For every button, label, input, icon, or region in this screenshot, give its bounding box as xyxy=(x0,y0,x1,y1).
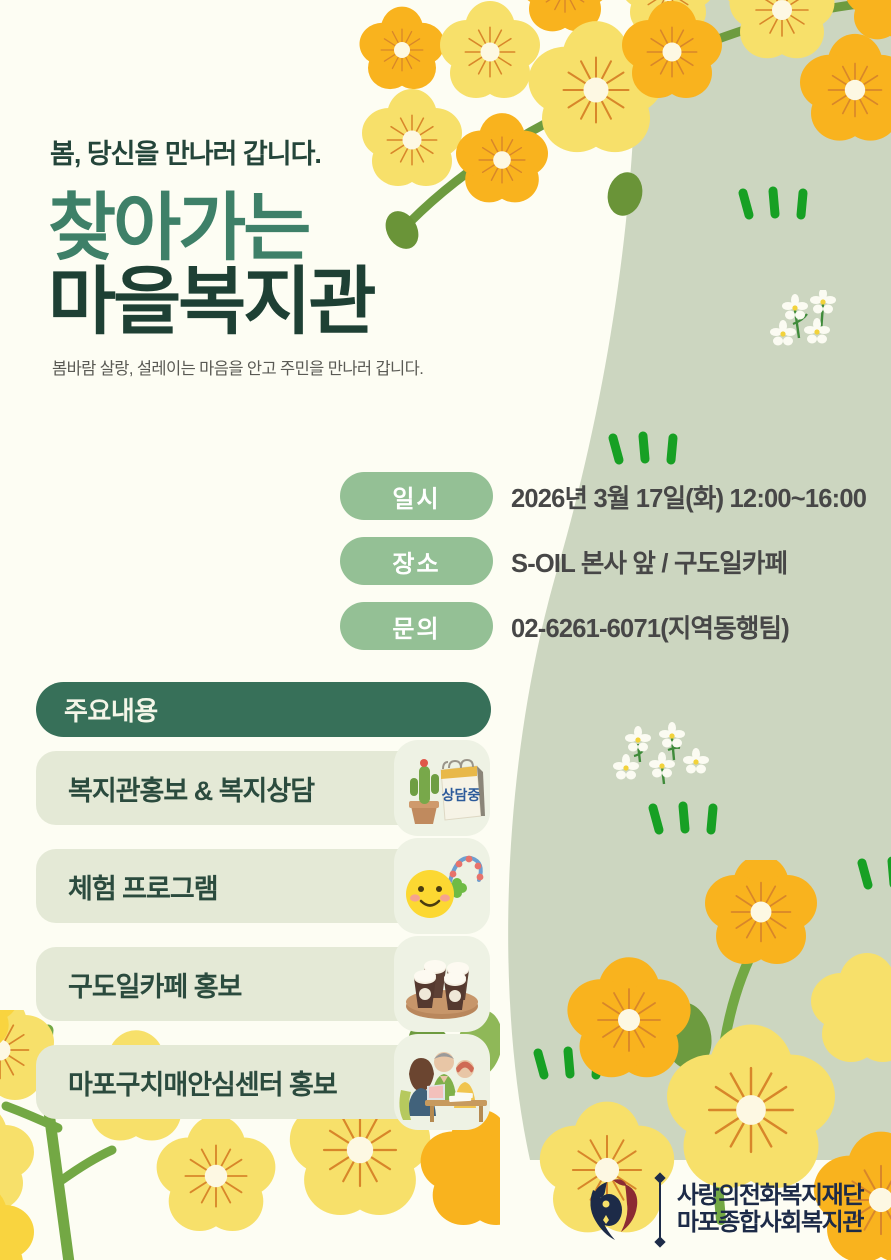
content-row-label: 복지관홍보 & 복지상담 xyxy=(68,769,314,808)
content-row: 체험 프로그램 xyxy=(36,849,486,923)
page-title-line-1: 찾아가는 xyxy=(48,192,518,265)
content-row-label: 구도일카페 홍보 xyxy=(68,965,241,1004)
info-block: 일시 2026년 3월 17일(화) 12:00~16:00 장소 S-OIL … xyxy=(340,472,880,667)
content-row: 구도일카페 홍보 xyxy=(36,947,486,1021)
content-row-label: 체험 프로그램 xyxy=(68,867,218,906)
headline-block: 봄, 당신을 만나러 갑니다. 찾아가는 마을복지관 봄바람 살랑, 설레이는 … xyxy=(48,140,518,379)
subtitle-text: 봄바람 살랑, 설레이는 마음을 안고 주민을 만나러 갑니다. xyxy=(52,355,518,379)
content-row: 복지관홍보 & 복지상담 xyxy=(36,751,486,825)
heart-phone-emblem-icon xyxy=(585,1176,647,1244)
content-section-header: 주요내용 xyxy=(36,682,491,737)
poster-canvas: 봄, 당신을 만나러 갑니다. 찾아가는 마을복지관 봄바람 살랑, 설레이는 … xyxy=(0,0,891,1260)
info-value-text: 02-6261-6071(지역동행팀) xyxy=(511,608,789,645)
info-row: 장소 S-OIL 본사 앞 / 구도일카페 xyxy=(340,537,880,585)
info-value-text: 2026년 3월 17일(화) 12:00~16:00 xyxy=(511,478,866,515)
content-row: 마포구치매안심센터 홍보 xyxy=(36,1045,486,1119)
info-label-badge: 일시 xyxy=(340,472,493,520)
content-block: 주요내용 복지관홍보 & 복지상담 xyxy=(36,682,491,1143)
info-row: 문의 02-6261-6071(지역동행팀) xyxy=(340,602,880,650)
calendar-icon-text: 상담중 xyxy=(442,787,481,803)
logo-text-line-1: 사랑의전화복지재단 xyxy=(677,1183,863,1210)
coffee-cups-icon xyxy=(394,936,490,1032)
page-title-line-2: 마을복지관 xyxy=(48,266,518,339)
logo-text-line-2: 마포종합사회복지관 xyxy=(677,1210,863,1237)
logo-divider xyxy=(659,1181,661,1239)
counseling-scene-icon xyxy=(394,1034,490,1130)
content-section-header-label: 주요내용 xyxy=(64,691,158,728)
info-row: 일시 2026년 3월 17일(화) 12:00~16:00 xyxy=(340,472,880,520)
content-row-label: 마포구치매안심센터 홍보 xyxy=(68,1063,337,1102)
logo-block: 사랑의전화복지재단 마포종합사회복지관 xyxy=(585,1176,863,1244)
logo-text: 사랑의전화복지재단 마포종합사회복지관 xyxy=(677,1183,863,1237)
kicker-text: 봄, 당신을 만나러 갑니다. xyxy=(50,140,518,170)
info-label-badge: 문의 xyxy=(340,602,493,650)
smiley-keychain-icon xyxy=(394,838,490,934)
info-value-text: S-OIL 본사 앞 / 구도일카페 xyxy=(511,543,787,580)
calendar-cactus-icon: 상담중 xyxy=(394,740,490,836)
info-label-badge: 장소 xyxy=(340,537,493,585)
